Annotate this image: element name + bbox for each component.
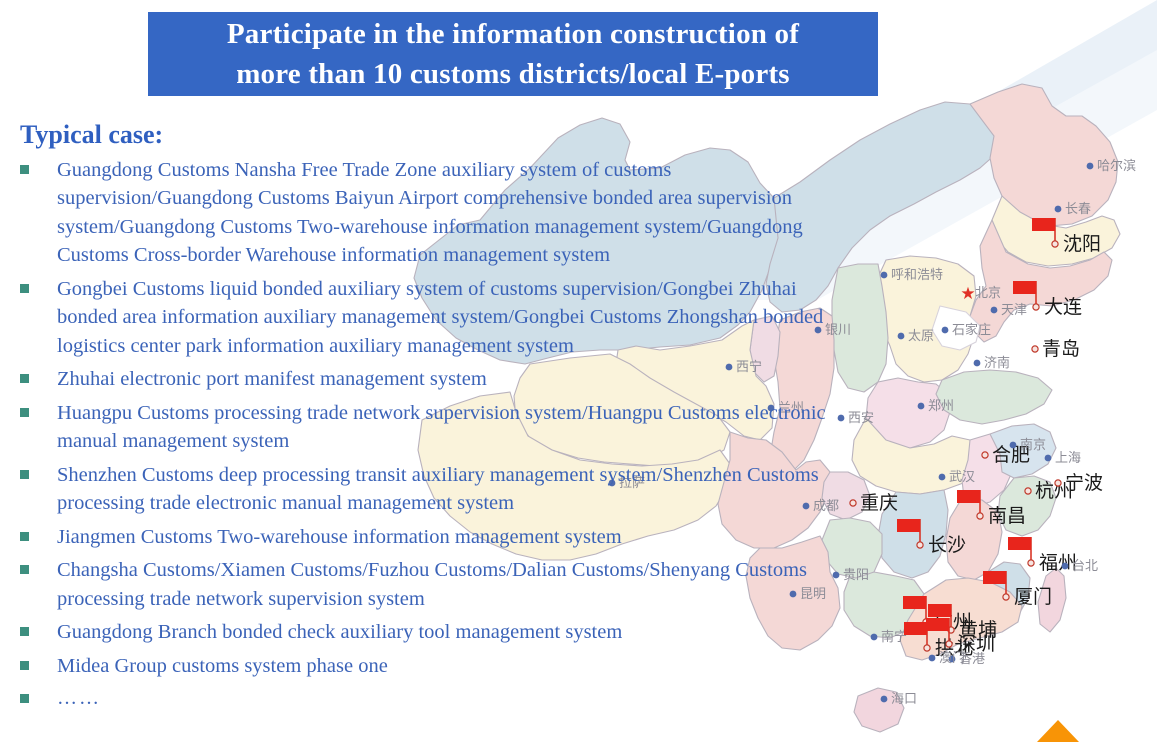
bullet-square-icon	[20, 532, 29, 541]
city-label: 南京	[1020, 437, 1046, 453]
city-ring-marker	[1055, 480, 1061, 486]
title-line-2: more than 10 customs districts/local E-p…	[236, 58, 790, 90]
capital-star-icon: ★	[960, 284, 975, 304]
city-label: 南昌	[988, 505, 1026, 527]
city-ring-marker	[982, 452, 988, 458]
city-dot-marker	[991, 307, 998, 314]
red-flag-icon	[904, 622, 927, 635]
city-dot-marker	[974, 360, 981, 367]
city-dot-marker	[881, 696, 888, 703]
city-ring-marker	[924, 645, 930, 651]
city-ring-marker	[917, 542, 923, 548]
city-label: 沈阳	[1063, 233, 1101, 255]
list-item-text: Guangdong Branch bonded check auxiliary …	[57, 621, 622, 643]
list-item-text: Shenzhen Customs deep processing transit…	[57, 464, 819, 514]
city-ring-marker	[1025, 488, 1031, 494]
bullet-square-icon	[20, 284, 29, 293]
bullet-square-icon	[20, 470, 29, 479]
list-item-text: Jiangmen Customs Two-warehouse informati…	[57, 526, 622, 548]
red-flag-icon	[957, 490, 980, 503]
bullet-square-icon	[20, 165, 29, 174]
city-label: 宁波	[1065, 472, 1103, 494]
red-flag-icon	[928, 604, 951, 617]
list-item-text: Changsha Customs/Xiamen Customs/Fuzhou C…	[57, 559, 807, 609]
list-item-text: ……	[57, 687, 101, 709]
bullet-square-icon	[20, 627, 29, 636]
page-title: Typical case:	[20, 120, 860, 150]
list-item: Guangdong Customs Nansha Free Trade Zone…	[0, 156, 860, 270]
city-label: 南宁	[881, 629, 907, 645]
city-ring-marker	[1052, 241, 1058, 247]
city-label: 郑州	[928, 399, 954, 414]
bullet-square-icon	[20, 374, 29, 383]
province-heilongjiang	[970, 84, 1118, 226]
city-label: 太原	[908, 329, 934, 344]
list-item-text: Guangdong Customs Nansha Free Trade Zone…	[57, 159, 803, 266]
list-item: Jiangmen Customs Two-warehouse informati…	[0, 523, 860, 551]
bullet-square-icon	[20, 565, 29, 574]
city-label: 青岛	[1042, 338, 1080, 360]
list-item: Huangpu Customs processing trade network…	[0, 399, 860, 456]
city-label: 重庆	[860, 492, 898, 514]
city-label: 澳门	[939, 650, 965, 666]
city-dot-marker	[871, 634, 878, 641]
title-banner: Participate in the information construct…	[148, 12, 878, 96]
city-label: 哈尔滨	[1097, 158, 1136, 174]
bullet-square-icon	[20, 408, 29, 417]
city-label: 长春	[1065, 202, 1091, 217]
list-item-text: Midea Group customs system phase one	[57, 655, 388, 677]
city-dot-marker	[1087, 163, 1094, 170]
city-ring-marker	[946, 641, 952, 647]
province-shandong	[936, 370, 1052, 424]
bullet-square-icon	[20, 661, 29, 670]
list-item: Shenzhen Customs deep processing transit…	[0, 461, 860, 518]
city-dot-marker	[939, 474, 946, 481]
city-dot-marker	[1010, 442, 1017, 449]
city-dot-marker	[1062, 563, 1069, 570]
slide-root: 哈尔滨长春沈阳大连青岛济南★北京天津石家庄太原呼和浩特银川西宁兰州西安郑州武汉合…	[0, 0, 1157, 743]
red-flag-icon	[983, 571, 1006, 584]
city-dot-marker	[1055, 206, 1062, 213]
city-dot-marker	[918, 403, 925, 410]
city-label: 厦门	[1014, 586, 1052, 608]
city-dot-marker	[942, 327, 949, 334]
list-item-text: Huangpu Customs processing trade network…	[57, 402, 826, 452]
red-flag-icon	[1013, 281, 1036, 294]
city-label: 上海	[1055, 451, 1081, 466]
city-label: 北京	[975, 286, 1001, 301]
title-text: Participate in the information construct…	[213, 14, 813, 94]
list-item: Midea Group customs system phase one	[0, 652, 860, 680]
city-dot-marker	[929, 655, 936, 662]
city-label: 济南	[984, 355, 1010, 371]
city-label: 天津	[1001, 303, 1027, 318]
red-flag-icon	[1008, 537, 1031, 550]
list-item: Zhuhai electronic port manifest manageme…	[0, 365, 860, 393]
city-label: 台北	[1072, 559, 1098, 574]
city-label: 海口	[891, 692, 917, 707]
city-ring-marker	[1003, 594, 1009, 600]
list-item-text: Zhuhai electronic port manifest manageme…	[57, 368, 487, 390]
title-line-1: Participate in the information construct…	[227, 18, 799, 50]
list-item: Guangdong Branch bonded check auxiliary …	[0, 618, 860, 646]
city-dot-marker	[1045, 455, 1052, 462]
triangle-icon	[1036, 718, 1080, 743]
content-block: Typical case: Guangdong Customs Nansha F…	[0, 120, 860, 718]
list-item: Changsha Customs/Xiamen Customs/Fuzhou C…	[0, 556, 860, 613]
list-item: Gongbei Customs liquid bonded auxiliary …	[0, 275, 860, 360]
city-ring-marker	[977, 513, 983, 519]
city-label: 呼和浩特	[891, 268, 943, 283]
city-label: 大连	[1044, 296, 1082, 318]
city-label: 长沙	[928, 534, 966, 556]
red-flag-icon	[1032, 218, 1055, 231]
city-label: 武汉	[949, 470, 975, 485]
city-label: 石家庄	[952, 322, 991, 338]
city-ring-marker	[1033, 304, 1039, 310]
city-ring-marker	[1032, 346, 1038, 352]
city-dot-marker	[881, 272, 888, 279]
list-item: ……	[0, 685, 860, 713]
typical-case-list: Guangdong Customs Nansha Free Trade Zone…	[0, 156, 860, 713]
red-flag-icon	[897, 519, 920, 532]
bullet-square-icon	[20, 694, 29, 703]
red-flag-icon	[926, 618, 949, 631]
red-flag-icon	[903, 596, 926, 609]
city-dot-marker	[898, 333, 905, 340]
city-ring-marker	[1028, 560, 1034, 566]
list-item-text: Gongbei Customs liquid bonded auxiliary …	[57, 278, 823, 357]
